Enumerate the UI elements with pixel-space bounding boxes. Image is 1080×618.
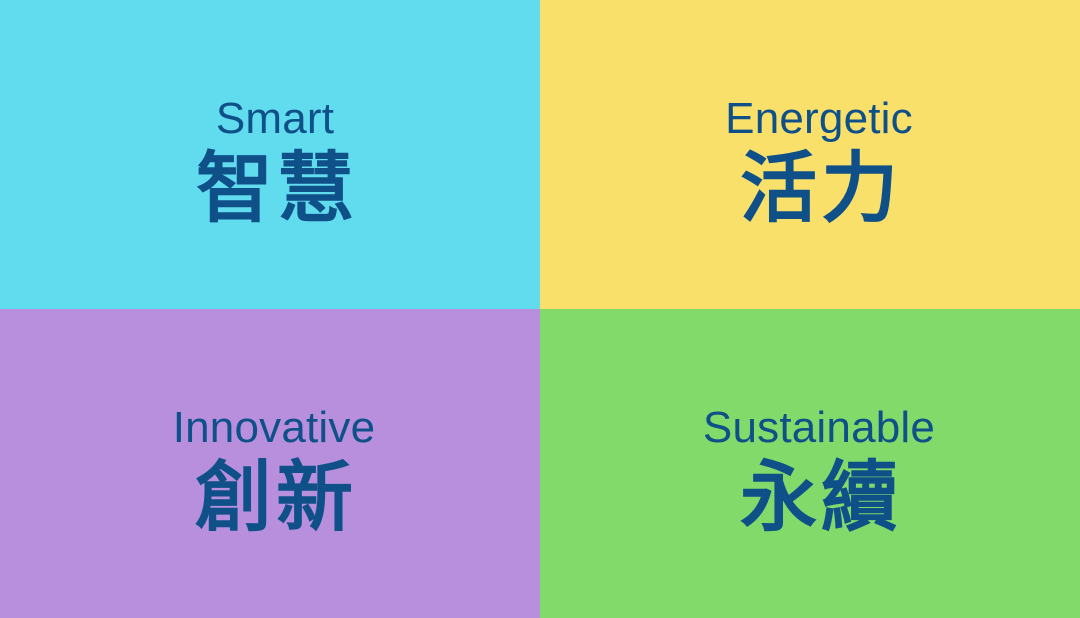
value-label-en-sustainable: Sustainable <box>703 405 935 451</box>
value-label-en-smart: Smart <box>216 96 334 142</box>
value-block-smart: Smart 智慧 <box>0 0 540 309</box>
brand-values-poster: Smart 智慧 Energetic 活力 Innovative 創新 Sust… <box>0 0 1080 618</box>
value-label-cjk-sustainable: 永續 <box>736 457 902 540</box>
quadrant-innovative: Innovative 創新 <box>0 309 540 618</box>
value-label-en-innovative: Innovative <box>173 405 376 451</box>
value-block-sustainable: Sustainable 永續 <box>540 309 1080 618</box>
value-label-en-energetic: Energetic <box>725 96 913 142</box>
value-block-energetic: Energetic 活力 <box>540 0 1080 309</box>
value-label-cjk-smart: 智慧 <box>192 148 358 231</box>
quadrant-smart: Smart 智慧 <box>0 0 540 309</box>
value-label-cjk-energetic: 活力 <box>736 148 902 231</box>
quadrant-energetic: Energetic 活力 <box>540 0 1080 309</box>
value-label-cjk-innovative: 創新 <box>191 457 357 540</box>
value-block-innovative: Innovative 創新 <box>0 309 540 618</box>
quadrant-sustainable: Sustainable 永續 <box>540 309 1080 618</box>
